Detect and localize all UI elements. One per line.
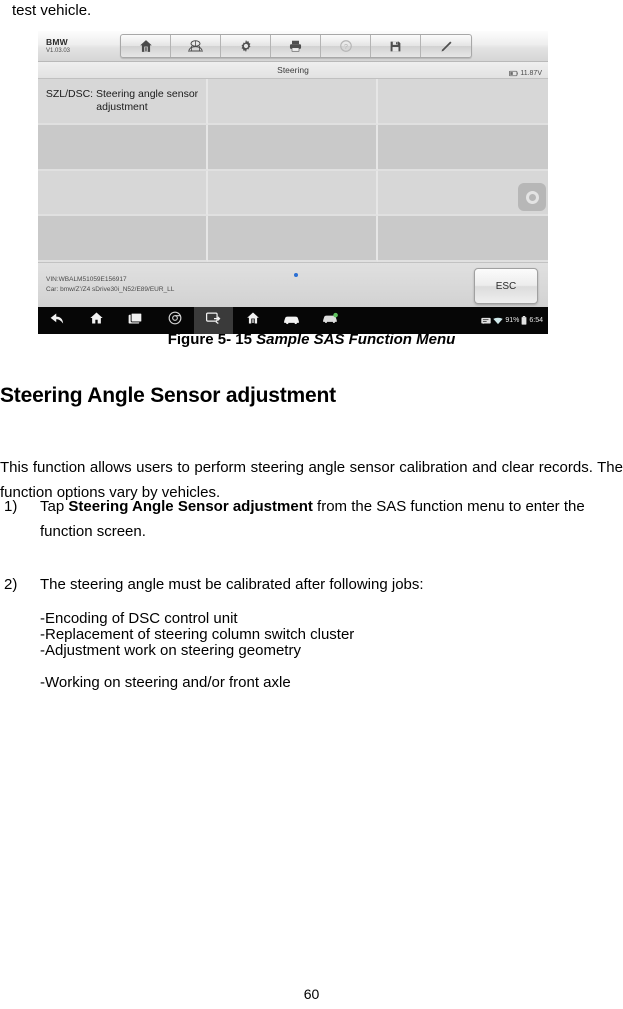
battery-percent-label: 91% (505, 317, 519, 324)
screen-title-bar: Steering 11.87V (38, 62, 548, 79)
clock-label: 6:54 (529, 317, 543, 324)
sub-bullet-line: -Working on steering and/or front axle (40, 670, 291, 695)
grid-row: SZL/DSC: Steering angle sensor adjustmen… (38, 79, 548, 125)
grid-row (38, 125, 548, 171)
continued-text-fragment: test vehicle. (12, 0, 91, 22)
gear-icon (239, 39, 253, 53)
figure-caption-number: Figure 5- 15 (168, 331, 252, 348)
wifi-icon (493, 312, 503, 330)
sub-bullet-line: -Encoding of DSC control unit (40, 606, 238, 631)
nav-browser-button[interactable] (155, 307, 194, 334)
function-menu-grid: SZL/DSC: Steering angle sensor adjustmen… (38, 79, 548, 262)
list-item-text-pre: Tap (40, 498, 68, 515)
vehicle-identification-block: VIN:WBALM51059E156917 Car: bmw/Z'/Z4 sDr… (38, 275, 174, 295)
function-cell-empty[interactable] (208, 79, 378, 125)
message-icon (481, 312, 491, 330)
function-cell-empty[interactable] (38, 216, 208, 262)
toolbar-diagnostics-button[interactable] (171, 35, 221, 57)
list-item-number: 2) (0, 572, 40, 647)
list-item: 1) Tap Steering Angle Sensor adjustment … (0, 494, 623, 569)
toolbar-print-button[interactable] (271, 35, 321, 57)
vehicle-info-bar: VIN:WBALM51059E156917 Car: bmw/Z'/Z4 sDr… (38, 262, 548, 307)
battery-icon (521, 312, 527, 330)
toolbar-home-button[interactable] (121, 35, 171, 57)
list-item-body: Tap Steering Angle Sensor adjustment fro… (40, 494, 623, 569)
status-indicator-dot (294, 273, 298, 277)
toolbar-settings-button[interactable] (221, 35, 271, 57)
tablet-screenshot: BMW V1.03.03 (38, 31, 548, 331)
save-floppy-icon (389, 40, 402, 53)
grid-row (38, 171, 548, 217)
toolbar-button-group: ? (120, 34, 472, 58)
nav-autel-home-button[interactable] (233, 307, 272, 334)
function-cell-empty[interactable] (38, 125, 208, 171)
figure-caption: Figure 5- 15 Sample SAS Function Menu (0, 331, 623, 348)
android-navigation-bar: 91% 6:54 (38, 307, 548, 334)
screenshot-capture-icon (206, 311, 222, 330)
function-cell-empty[interactable] (378, 79, 548, 125)
toolbar-help-button[interactable]: ? (321, 35, 371, 57)
car-icon (283, 312, 300, 330)
svg-text:?: ? (344, 44, 348, 51)
recent-apps-icon (128, 312, 143, 330)
vehicle-diagnostics-icon (187, 40, 204, 53)
home-icon (89, 311, 104, 330)
scroll-handle-icon[interactable] (518, 183, 546, 211)
back-arrow-icon (50, 312, 65, 330)
page-number: 60 (0, 986, 623, 1002)
printer-icon (288, 39, 303, 53)
nav-vehicle-data-button[interactable] (311, 307, 350, 334)
list-item-bold-term: Steering Angle Sensor adjustment (68, 498, 313, 515)
nav-home-button[interactable] (77, 307, 116, 334)
scroll-handle-ring (526, 191, 539, 204)
edit-pencil-icon (439, 39, 454, 54)
help-question-icon: ? (339, 39, 353, 53)
battery-voltage-value: 11.87V (520, 70, 542, 77)
function-cell-empty[interactable] (378, 125, 548, 171)
list-item-number: 1) (0, 494, 40, 569)
toolbar-edit-button[interactable] (421, 35, 471, 57)
home-icon (139, 39, 153, 53)
list-item-text-pre: The steering angle must be calibrated af… (40, 576, 424, 593)
function-cell-empty[interactable] (208, 216, 378, 262)
vin-value: VIN:WBALM51059E156917 (46, 275, 174, 285)
nav-recent-apps-button[interactable] (116, 307, 155, 334)
software-version: V1.03.03 (46, 48, 120, 54)
function-cell-empty[interactable] (38, 171, 208, 217)
esc-button[interactable]: ESC (474, 268, 538, 304)
function-cell-szl-dsc[interactable]: SZL/DSC: Steering angle sensor adjustmen… (38, 79, 208, 125)
sub-bullet-line: -Adjustment work on steering geometry (40, 638, 301, 663)
vehicle-data-icon (322, 312, 339, 330)
car-model-value: Car: bmw/Z'/Z4 sDrive30i_N52/E89/EUR_LL (46, 285, 174, 295)
function-cell-empty[interactable] (378, 216, 548, 262)
screen-title: Steering (277, 65, 309, 75)
figure-sample-sas-function-menu: BMW V1.03.03 (38, 31, 548, 331)
grid-row (38, 216, 548, 262)
autel-home-icon (246, 311, 260, 330)
toolbar-save-button[interactable] (371, 35, 421, 57)
app-toolbar: BMW V1.03.03 (38, 31, 548, 62)
function-cell-empty[interactable] (208, 125, 378, 171)
nav-vehicle-button[interactable] (272, 307, 311, 334)
chrome-browser-icon (168, 311, 182, 330)
function-cell-empty[interactable] (208, 171, 378, 217)
vehicle-brand-block: BMW V1.03.03 (38, 38, 120, 54)
section-heading: Steering Angle Sensor adjustment (0, 384, 336, 408)
nav-screenshot-button[interactable] (194, 307, 233, 334)
nav-back-button[interactable] (38, 307, 77, 334)
figure-caption-title: Sample SAS Function Menu (256, 331, 455, 348)
system-status-area: 91% 6:54 (481, 307, 543, 334)
brand-name: BMW (46, 38, 120, 47)
